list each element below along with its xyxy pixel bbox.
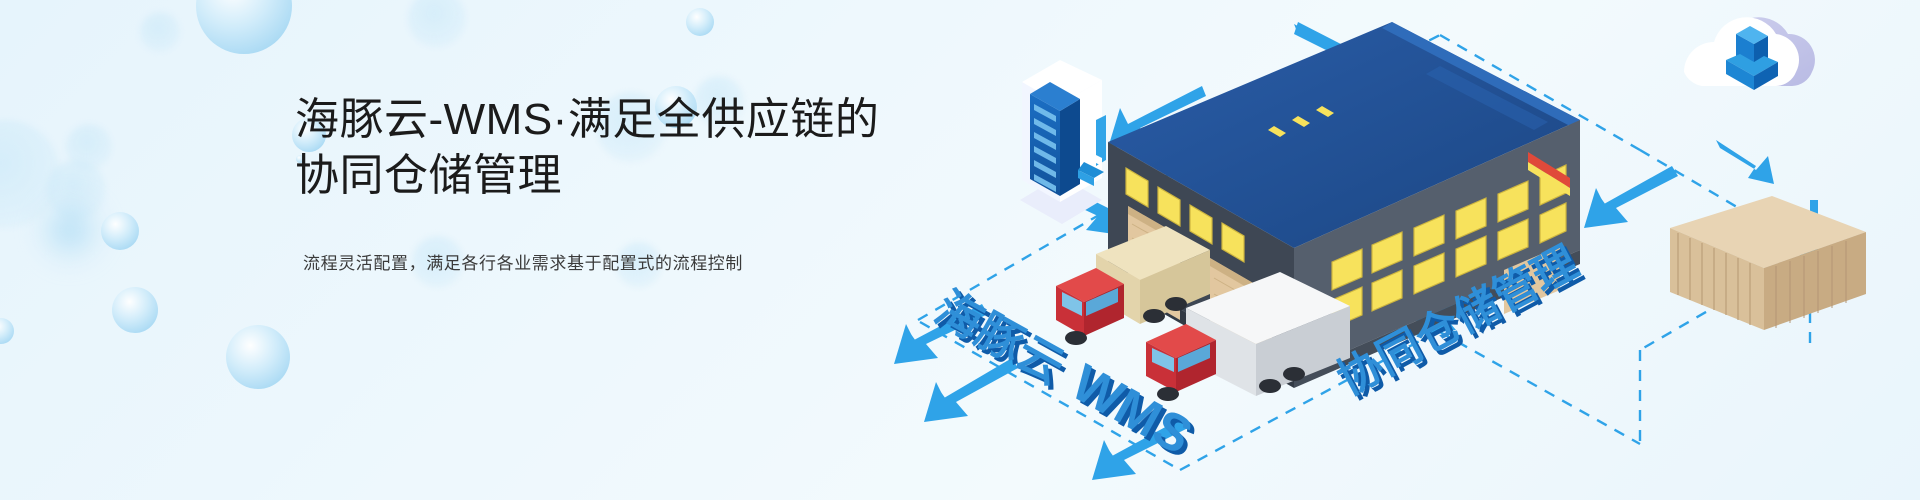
bubble-decoration <box>46 160 106 220</box>
bubble-decoration <box>408 0 466 48</box>
page-subtitle: 流程灵活配置，满足各行各业需求基于配置式的流程控制 <box>303 249 915 274</box>
page-title: 海豚云-WMS·满足全供应链的 协同仓储管理 <box>295 92 915 205</box>
hero-banner: 海豚云-WMS·满足全供应链的 协同仓储管理 流程灵活配置，满足各行各业需求基于… <box>0 0 1920 500</box>
bubble-decoration <box>140 12 180 52</box>
bubble-decoration <box>0 120 60 228</box>
bubble-decoration <box>101 212 139 250</box>
bubble-decoration <box>32 192 108 268</box>
illustration-label-left: 海豚云 海豚云 <box>927 281 1077 397</box>
bubble-decoration <box>112 287 158 333</box>
bubble-decoration <box>0 318 14 344</box>
bubble-decoration <box>66 124 112 170</box>
bubble-decoration <box>196 0 292 54</box>
hero-copy: 海豚云-WMS·满足全供应链的 协同仓储管理 流程灵活配置，满足各行各业需求基于… <box>295 92 915 274</box>
bubble-decoration <box>686 8 714 36</box>
server-rack-icon <box>1020 60 1106 224</box>
bubble-decoration <box>226 325 290 389</box>
cloud-download-icon <box>1684 17 1815 90</box>
warehouse-illustration: 海豚云 海豚云 WMS WMS 协同仓储管理 协同仓储管理 <box>880 0 1920 500</box>
shipping-container-icon <box>1670 196 1866 330</box>
